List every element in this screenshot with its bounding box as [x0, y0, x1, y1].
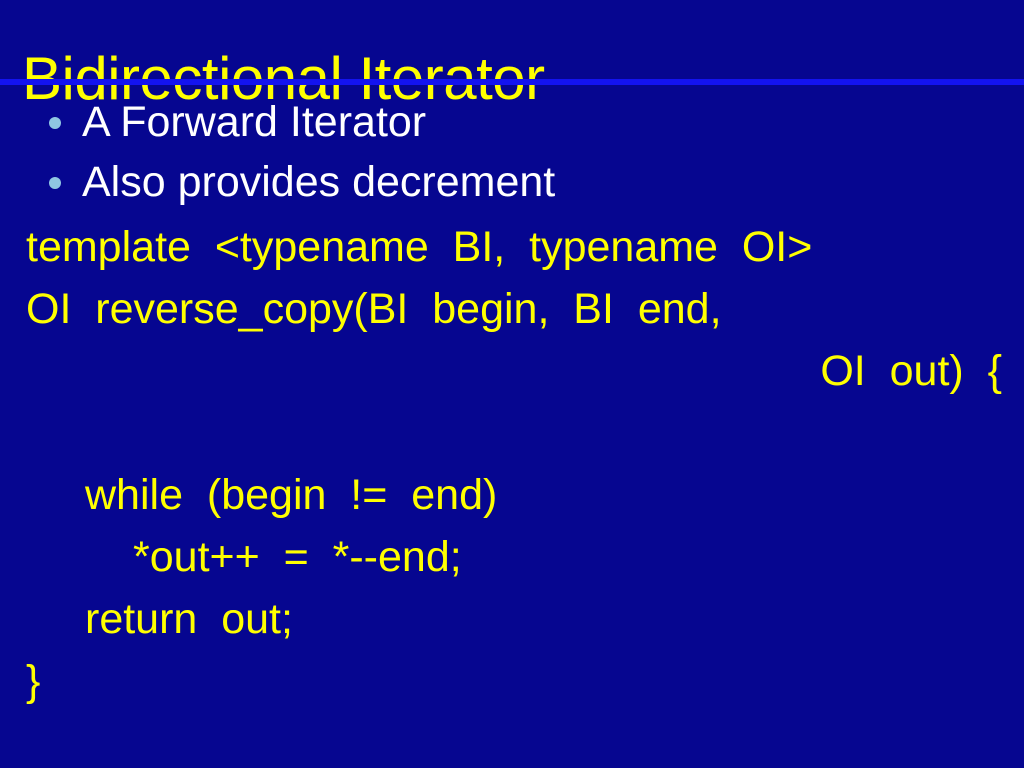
bullet-dot-icon — [49, 177, 61, 189]
list-item: Also provides decrement — [0, 152, 1024, 212]
code-line: } — [0, 650, 1024, 712]
bullet-dot-icon — [49, 117, 61, 129]
code-line: template <typename BI, typename OI> — [0, 216, 1024, 278]
code-line: OI reverse_copy(BI begin, BI end, — [0, 278, 1024, 340]
bullet-list: A Forward Iterator Also provides decreme… — [0, 92, 1024, 212]
code-block: template <typename BI, typename OI> OI r… — [0, 216, 1024, 712]
code-line: OI out) { — [0, 340, 1024, 402]
title-divider — [0, 79, 1024, 85]
list-item-label: A Forward Iterator — [82, 98, 426, 146]
code-line: *out++ = *--end; — [0, 526, 1024, 588]
code-line: while (begin != end) — [0, 464, 1024, 526]
slide: Bidirectional Iterator A Forward Iterato… — [0, 0, 1024, 768]
list-item: A Forward Iterator — [0, 92, 1024, 152]
code-line-blank — [0, 402, 1024, 464]
code-line: return out; — [0, 588, 1024, 650]
list-item-label: Also provides decrement — [82, 158, 555, 206]
